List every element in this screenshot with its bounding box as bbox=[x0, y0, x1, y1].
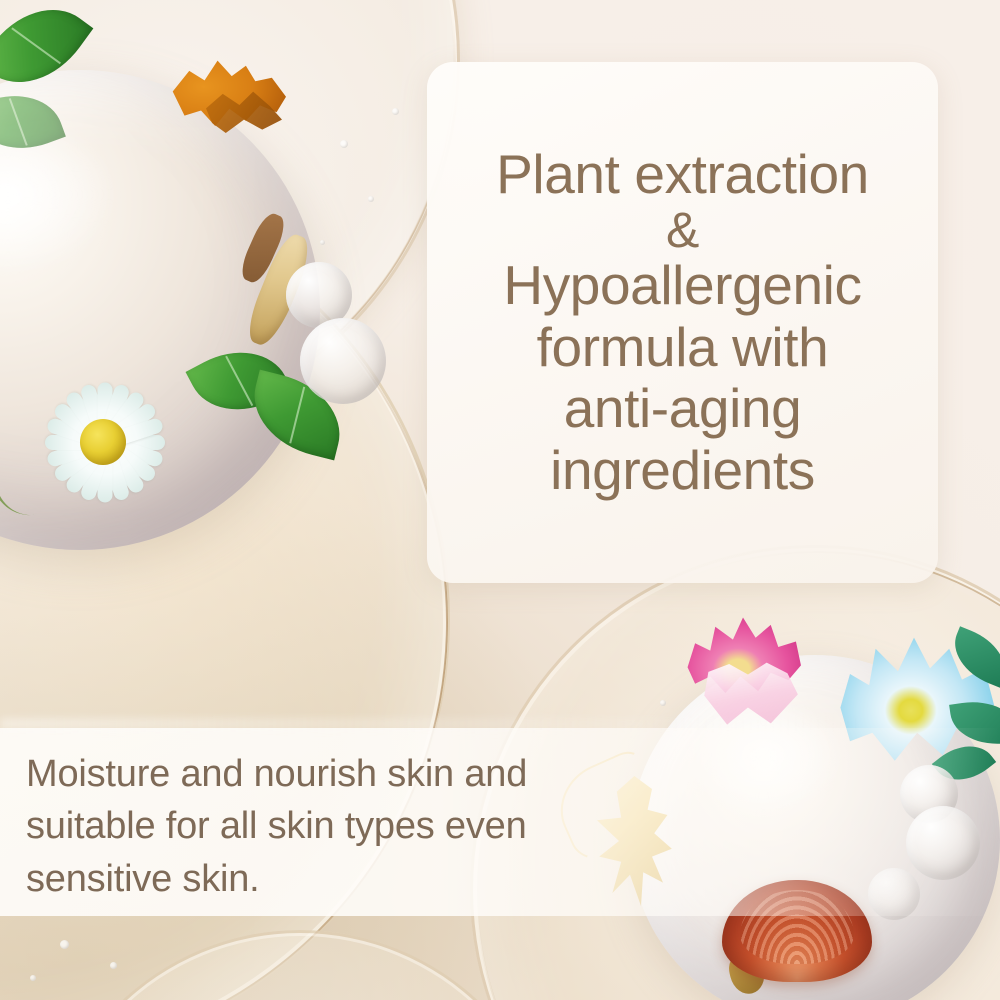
body-paragraph: Moisture and nourish skin and suitable f… bbox=[26, 748, 616, 905]
bubble-icon bbox=[392, 108, 399, 115]
bubble-icon bbox=[110, 962, 117, 969]
bubble-icon bbox=[30, 975, 36, 981]
bubble-icon bbox=[60, 940, 69, 949]
bubble-icon bbox=[660, 700, 666, 706]
headline-line-5: anti-aging bbox=[496, 378, 869, 440]
water-droplet-icon bbox=[300, 318, 386, 404]
headline-line-3: Hypoallergenic bbox=[496, 255, 869, 317]
bubble-icon bbox=[340, 140, 348, 148]
headline-line-4: formula with bbox=[496, 317, 869, 379]
bubble-icon bbox=[368, 196, 374, 202]
body-line-1: Moisture and nourish skin and bbox=[26, 748, 616, 800]
body-line-2: suitable for all skin types even bbox=[26, 800, 616, 852]
headline-card: Plant extraction & Hypoallergenic formul… bbox=[427, 62, 938, 583]
banner-stage: Plant extraction & Hypoallergenic formul… bbox=[0, 0, 1000, 1000]
headline-line-2: & bbox=[496, 205, 869, 255]
headline-line-1: Plant extraction bbox=[496, 144, 869, 206]
headline-line-6: ingredients bbox=[496, 440, 869, 502]
body-line-3: sensitive skin. bbox=[26, 853, 616, 905]
headline-title: Plant extraction & Hypoallergenic formul… bbox=[482, 144, 883, 502]
bubble-icon bbox=[320, 240, 325, 245]
daisy-core bbox=[80, 419, 126, 465]
